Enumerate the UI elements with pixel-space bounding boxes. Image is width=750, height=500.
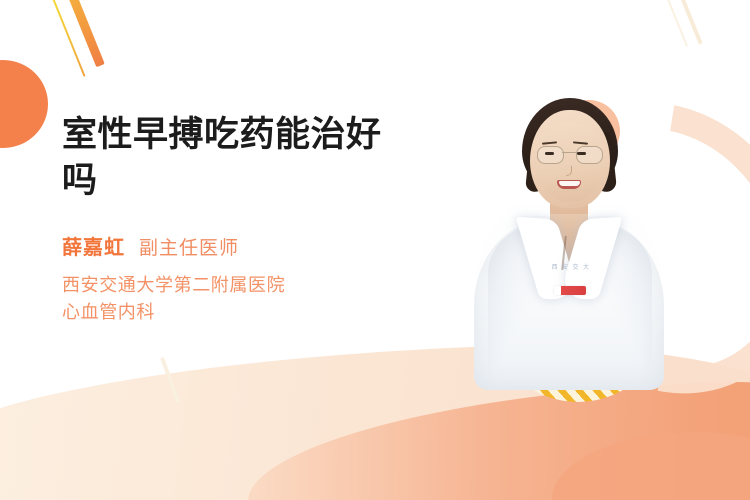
yellow-diagonal-stripe: [47, 0, 86, 77]
eyeglass-lens-right: [576, 146, 603, 164]
eye-right: [577, 152, 586, 155]
doctor-hospital: 西安交通大学第二附属医院: [62, 272, 422, 299]
doctor-id-badge: [554, 286, 586, 295]
orange-diagonal-stripe: [62, 0, 105, 67]
cream-diagonal-stripe-a: [672, 0, 703, 45]
doctor-rank: 副主任医师: [139, 233, 239, 260]
doctor-video-card: 西 安 交 大 室性早搏吃药能治好吗 薛嘉虹 副主任医师 西安交通大学第二附属医…: [0, 0, 750, 500]
doctor-department: 心血管内科: [62, 299, 422, 326]
coat-emblem-text: 西 安 交 大: [544, 264, 598, 280]
salmon-wave-lobe-shape: [552, 432, 750, 500]
eye-left: [545, 152, 554, 155]
doctor-portrait: 西 安 交 大: [466, 86, 672, 376]
eyeglass-bridge: [562, 152, 578, 153]
smiling-mouth: [557, 180, 581, 189]
doctor-identity-line: 薛嘉虹 副主任医师: [62, 231, 422, 260]
doctor-affiliation: 西安交通大学第二附属医院 心血管内科: [62, 272, 422, 326]
cream-diagonal-stripe-c: [160, 357, 180, 403]
eyeglass-lens-left: [537, 146, 564, 164]
eyeglasses-icon: [536, 146, 604, 164]
page-title: 室性早搏吃药能治好吗: [62, 112, 402, 204]
doctor-name: 薛嘉虹: [62, 231, 125, 260]
orange-circle-shape: [0, 60, 48, 148]
cream-diagonal-stripe-b: [660, 0, 688, 47]
card-text-block: 室性早搏吃药能治好吗 薛嘉虹 副主任医师 西安交通大学第二附属医院 心血管内科: [62, 112, 422, 326]
